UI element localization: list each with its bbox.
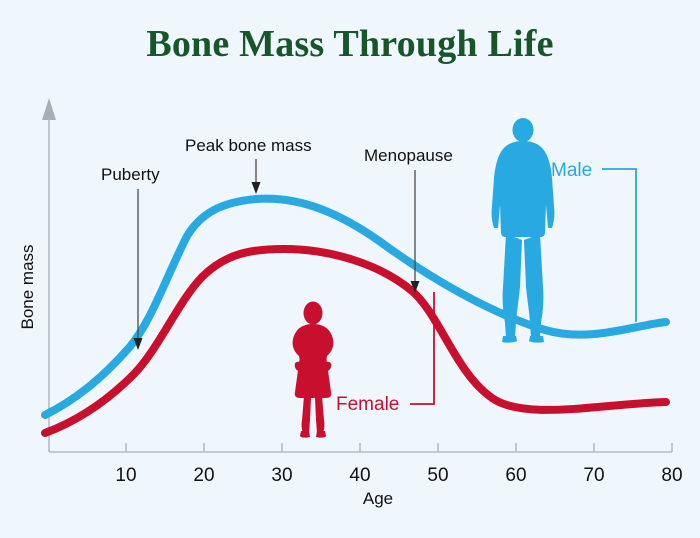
x-tick-label-60: 60 xyxy=(505,465,526,486)
chart-canvas: Bone Mass Through Life 10 20 xyxy=(0,0,700,538)
x-tick-label-10: 10 xyxy=(115,465,136,486)
x-axis-title: Age xyxy=(363,489,393,508)
x-tick-label-70: 70 xyxy=(583,465,604,486)
female-silhouette-icon xyxy=(293,302,334,438)
annotation-peak-bone-mass: Peak bone mass xyxy=(185,136,312,194)
x-tick-label-20: 20 xyxy=(193,465,214,486)
annotation-puberty: Puberty xyxy=(101,165,160,350)
annotation-puberty-label: Puberty xyxy=(101,165,160,184)
x-tick-label-80: 80 xyxy=(661,465,682,486)
series-label-male: Male xyxy=(551,160,592,181)
series-callout-male-leader-line xyxy=(602,169,636,322)
series-callout-male: Male xyxy=(551,160,636,322)
bone-mass-line-chart: 10 20 30 40 50 60 70 80 Age Bone mass Pu… xyxy=(0,0,700,538)
y-axis-arrow-icon xyxy=(42,98,56,120)
y-axis-title: Bone mass xyxy=(18,244,37,329)
x-tick-label-40: 40 xyxy=(349,465,370,486)
annotation-menopause-label: Menopause xyxy=(364,146,453,165)
annotation-peak-bone-mass-label: Peak bone mass xyxy=(185,136,312,155)
x-axis-ticks xyxy=(126,443,672,452)
x-tick-label-30: 30 xyxy=(271,465,292,486)
series-callout-female: Female xyxy=(336,292,434,415)
x-tick-label-50: 50 xyxy=(427,465,448,486)
annotation-peak-bone-mass-arrow-icon xyxy=(252,182,261,194)
series-label-female: Female xyxy=(336,394,399,415)
